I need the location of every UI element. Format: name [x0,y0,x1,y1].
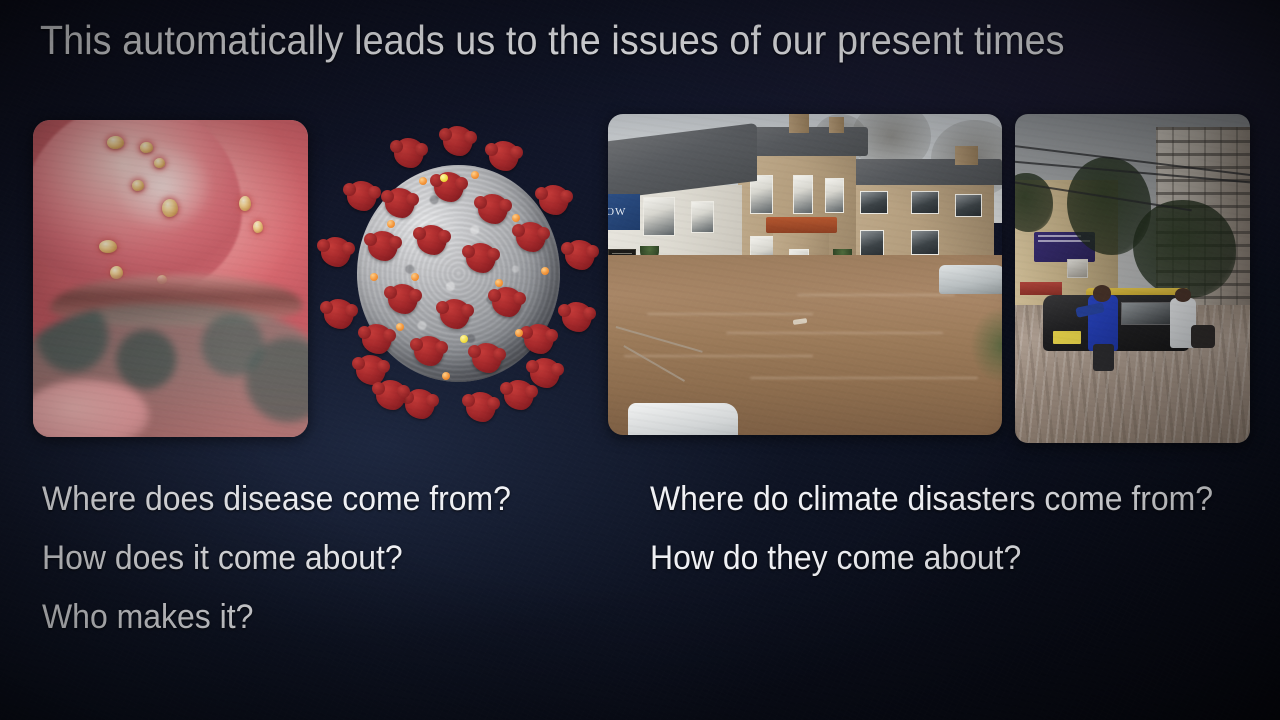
window [643,197,675,236]
taxi-window [1121,302,1177,325]
license-plate [1053,331,1081,344]
spike-protein [362,324,392,354]
window [825,178,845,213]
uk-village-flood-photo: OW [608,114,1002,435]
question-line: Who makes it? [42,588,511,647]
question-line: Where does disease come from? [42,470,511,529]
window [793,175,813,214]
window [955,194,983,216]
water-ripple [726,332,943,334]
question-line: How does it come about? [42,529,511,588]
window [911,230,939,256]
spike-protein [356,355,386,385]
red-tile-roof [766,217,837,233]
spike-protein [472,343,502,373]
spike-protein [440,299,470,329]
chimney [789,114,809,133]
spike-protein [368,231,398,261]
spike-protein [530,358,560,388]
spike-protein [443,126,473,156]
head [1175,288,1191,301]
spike-protein [504,380,534,410]
mumbai-street-flood-photo [1015,114,1250,443]
chimney [829,117,845,133]
membrane-protein-dot [515,329,523,337]
question-line: How do they come about? [650,529,1213,588]
membrane-protein-dot [411,273,419,281]
membrane-protein-dot [440,174,448,182]
slide-title: This automatically leads us to the issue… [40,17,1144,64]
skin-disease-photo-content [33,120,308,437]
window [860,191,888,213]
spike-protein [385,188,415,218]
membrane-protein-dot [396,323,404,331]
window [911,191,939,213]
spike-protein [539,185,569,215]
question-line: Where do climate disasters come from? [650,470,1213,529]
spike-protein [434,172,464,202]
shop-awning [1020,282,1062,295]
spike-protein [414,336,444,366]
water-ripple [797,294,955,296]
membrane-protein-dot [460,335,468,343]
spike-protein [324,299,354,329]
spike-protein [347,181,377,211]
membrane-protein-dot [370,273,378,281]
uk-flood-photo-content: OW [608,114,1002,435]
water-ripple [647,313,812,315]
pustule [154,158,165,168]
spike-protein [524,324,554,354]
membrane-protein-dot [495,279,503,287]
water-ripple [750,377,979,379]
spike-protein [466,392,496,422]
spike-protein [376,380,406,410]
window [1067,259,1088,279]
skin-disease-photo [33,120,308,437]
spike-protein [492,287,522,317]
white-van-foreground [628,403,738,435]
spike-protein [394,138,424,168]
virus-illustration-content [313,122,603,432]
spike-protein [321,237,351,267]
head [1093,285,1112,301]
door [860,230,884,259]
membrane-protein-dot [541,267,549,275]
legs [1093,344,1114,370]
spike-protein [489,141,519,171]
slide-canvas: This automatically leads us to the issue… [0,0,1280,720]
mumbai-flood-photo-content [1015,114,1250,443]
spike-protein [405,389,435,419]
submerged-car [939,265,1002,294]
coronavirus-particle-illustration [313,122,603,432]
window [691,201,715,233]
climate-questions: Where do climate disasters come from? Ho… [650,470,1249,588]
spike-protein [565,240,595,270]
water-ripple [624,355,813,357]
spike-protein [417,225,447,255]
spike-protein [562,302,592,332]
spike-protein [478,194,508,224]
pustule [107,136,124,149]
carried-bag [1191,325,1215,348]
blue-shop-sign: OW [608,194,640,229]
spike-protein [516,222,546,252]
chimney [955,146,979,165]
disease-questions: Where does disease come from? How does i… [42,470,541,647]
spike-protein [388,284,418,314]
